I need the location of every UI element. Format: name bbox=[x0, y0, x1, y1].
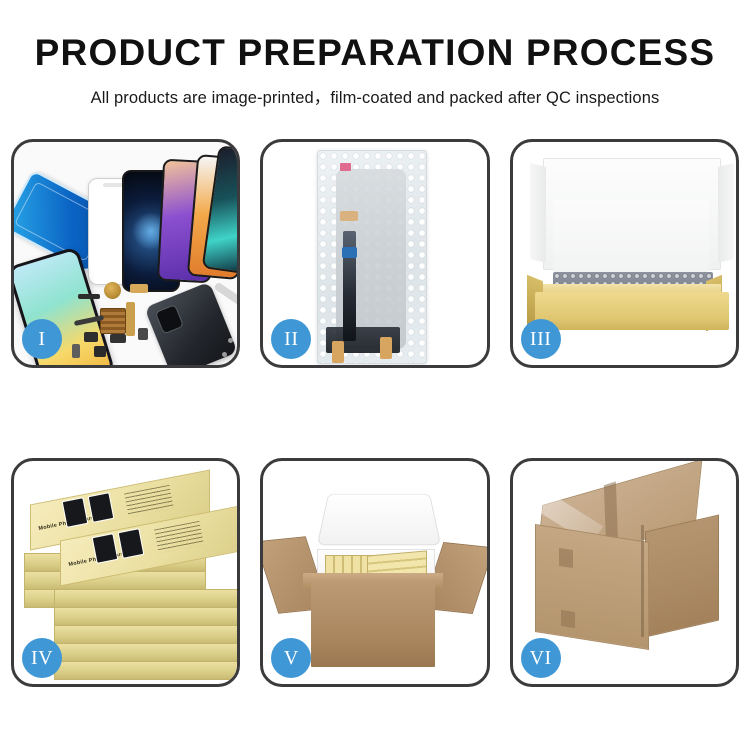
pink-qc-mark bbox=[340, 163, 351, 171]
page-subtitle: All products are image-printed，film-coat… bbox=[0, 84, 750, 108]
screw-2 bbox=[236, 348, 237, 353]
lcd-tab-left bbox=[332, 341, 344, 363]
process-step-panel-4[interactable]: Mobile Phone Spare Parts Mobile Phone Sp… bbox=[11, 458, 240, 687]
page-title: PRODUCT PREPARATION PROCESS bbox=[0, 34, 750, 73]
process-step-panel-3[interactable]: III bbox=[510, 139, 739, 368]
box-slab-4 bbox=[54, 589, 237, 608]
screw-1 bbox=[228, 338, 233, 343]
flex-connector-part bbox=[130, 284, 148, 293]
lcd-tab-right bbox=[380, 337, 392, 359]
flex-cable-part bbox=[126, 302, 135, 336]
step-badge-1: I bbox=[22, 319, 62, 359]
chip-grid-part bbox=[100, 308, 126, 334]
process-step-panel-6[interactable]: VI bbox=[510, 458, 739, 687]
carton-body bbox=[311, 583, 435, 667]
foam-sheet bbox=[553, 200, 709, 272]
lcd-connector bbox=[340, 211, 358, 221]
box-slab-7 bbox=[54, 643, 237, 662]
screw-3 bbox=[222, 352, 227, 357]
page-header: PRODUCT PREPARATION PROCESS All products… bbox=[0, 0, 750, 108]
small-part-1 bbox=[84, 332, 98, 342]
small-part-2 bbox=[110, 334, 126, 343]
process-step-panel-5[interactable]: V bbox=[260, 458, 489, 687]
tray-front-wall bbox=[535, 292, 729, 330]
box-slab-5 bbox=[54, 607, 237, 626]
sealed-carton-front bbox=[535, 524, 649, 650]
small-part-3 bbox=[72, 344, 80, 358]
product-preparation-page: PRODUCT PREPARATION PROCESS All products… bbox=[0, 0, 750, 750]
step-badge-6: VI bbox=[521, 638, 561, 678]
earpiece-part bbox=[78, 294, 100, 299]
process-step-grid: I II bbox=[11, 139, 739, 687]
lcd-driver-ic bbox=[342, 247, 357, 258]
step-badge-3: III bbox=[521, 319, 561, 359]
bubble-wrap-bag bbox=[317, 150, 427, 364]
box-slab-6 bbox=[54, 625, 237, 644]
small-part-5 bbox=[138, 328, 148, 340]
sealed-carton-side bbox=[645, 514, 719, 637]
process-step-panel-2[interactable]: II bbox=[260, 139, 489, 368]
copper-coil-part bbox=[104, 282, 121, 299]
foam-lid bbox=[317, 494, 441, 545]
carton-corner-seam bbox=[641, 525, 644, 637]
step-badge-4: IV bbox=[22, 638, 62, 678]
process-step-panel-1[interactable]: I bbox=[11, 139, 240, 368]
box-slab-8 bbox=[54, 661, 237, 680]
small-part-4 bbox=[94, 346, 106, 357]
carton-mark-lower bbox=[561, 610, 575, 628]
carton-mark-upper bbox=[559, 548, 573, 568]
